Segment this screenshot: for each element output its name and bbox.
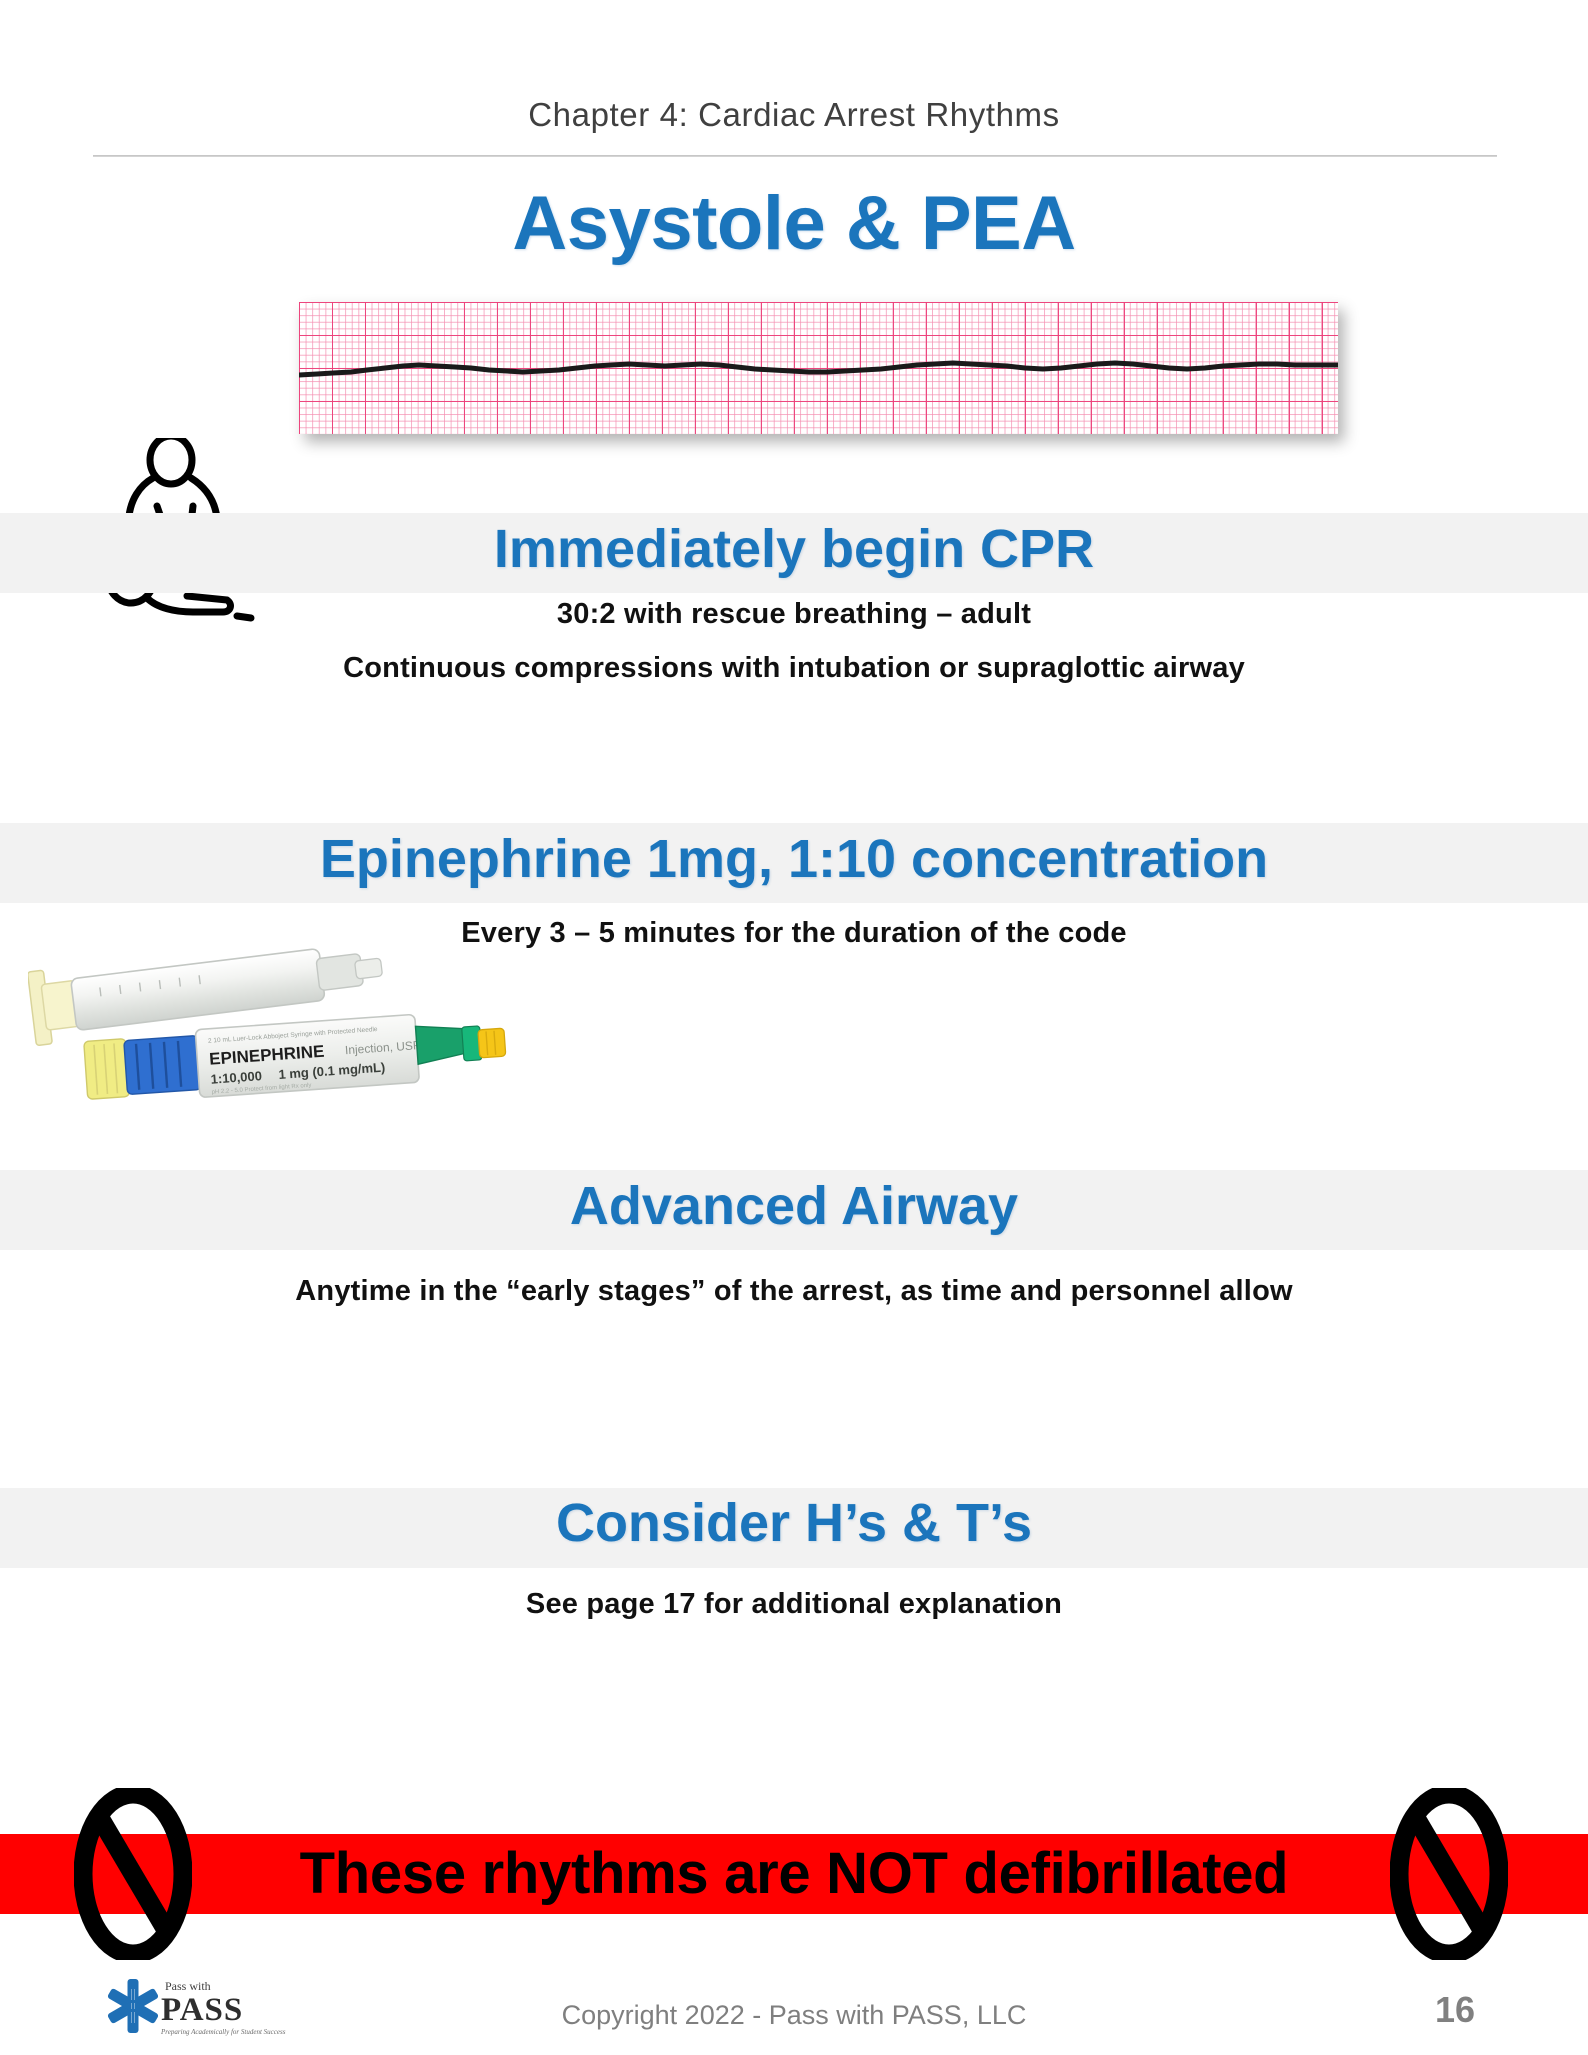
section-hs-and-ts-line-1: See page 17 for additional explanation	[0, 1588, 1588, 1621]
no-entry-prohibition-icon	[74, 1788, 192, 1960]
section-heading-hs-and-ts: Consider H’s & T’s	[0, 1492, 1588, 1554]
section-advanced-airway-line-1: Anytime in the “early stages” of the arr…	[0, 1275, 1588, 1308]
section-cpr-line-2: Continuous compressions with intubation …	[0, 652, 1588, 685]
logo-top-text: Pass with	[165, 1979, 211, 1993]
no-entry-prohibition-icon	[1390, 1788, 1508, 1960]
section-cpr-line-1: 30:2 with rescue breathing – adult	[0, 598, 1588, 631]
page-title: Asystole & PEA	[0, 180, 1588, 267]
header-divider	[93, 155, 1497, 157]
epinephrine-syringe-image: 2 10 mL Luer-Lock Abboject Syringe with …	[28, 932, 528, 1122]
ecg-flatline-trace	[299, 302, 1338, 434]
chapter-heading: Chapter 4: Cardiac Arrest Rhythms	[0, 96, 1588, 134]
ecg-asystole-strip	[299, 302, 1338, 434]
warning-text: These rhythms are NOT defibrillated	[0, 1832, 1588, 1916]
page-number: 16	[1400, 1989, 1510, 2031]
section-heading-advanced-airway: Advanced Airway	[0, 1175, 1588, 1237]
section-heading-epinephrine: Epinephrine 1mg, 1:10 concentration	[0, 828, 1588, 890]
copyright-text: Copyright 2022 - Pass with PASS, LLC	[0, 2000, 1588, 2031]
section-heading-cpr: Immediately begin CPR	[0, 518, 1588, 580]
slide-page: Chapter 4: Cardiac Arrest Rhythms Asysto…	[0, 0, 1588, 2055]
